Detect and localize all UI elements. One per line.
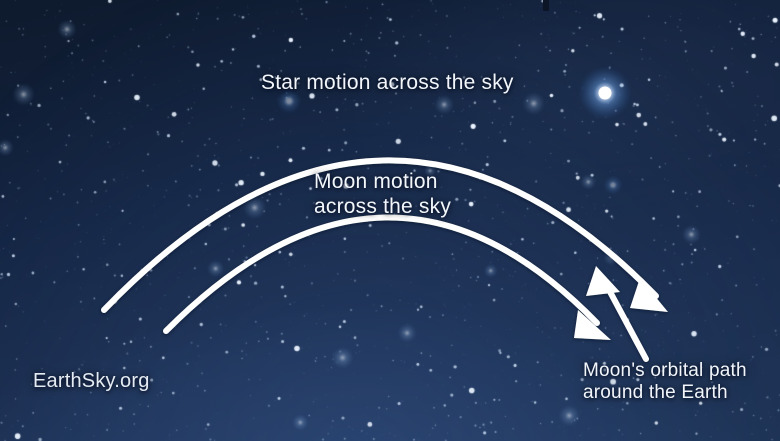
bright-star-glow: [578, 66, 632, 120]
moon-orbital-path-label: Moon's orbital path around the Earth: [583, 360, 747, 405]
star-motion-arrowhead: [630, 278, 668, 312]
earthsky-watermark: EarthSky.org: [33, 370, 150, 394]
moon-motion-arc: [166, 217, 611, 340]
tertiary-star-glow: [603, 175, 623, 195]
moon-motion-label: Moon motion across the sky: [314, 170, 451, 220]
moon-orbital-arrowhead: [586, 266, 620, 296]
star-motion-label: Star motion across the sky: [261, 71, 514, 96]
diagram-canvas: Star motion across the sky Moon motion a…: [0, 0, 780, 441]
